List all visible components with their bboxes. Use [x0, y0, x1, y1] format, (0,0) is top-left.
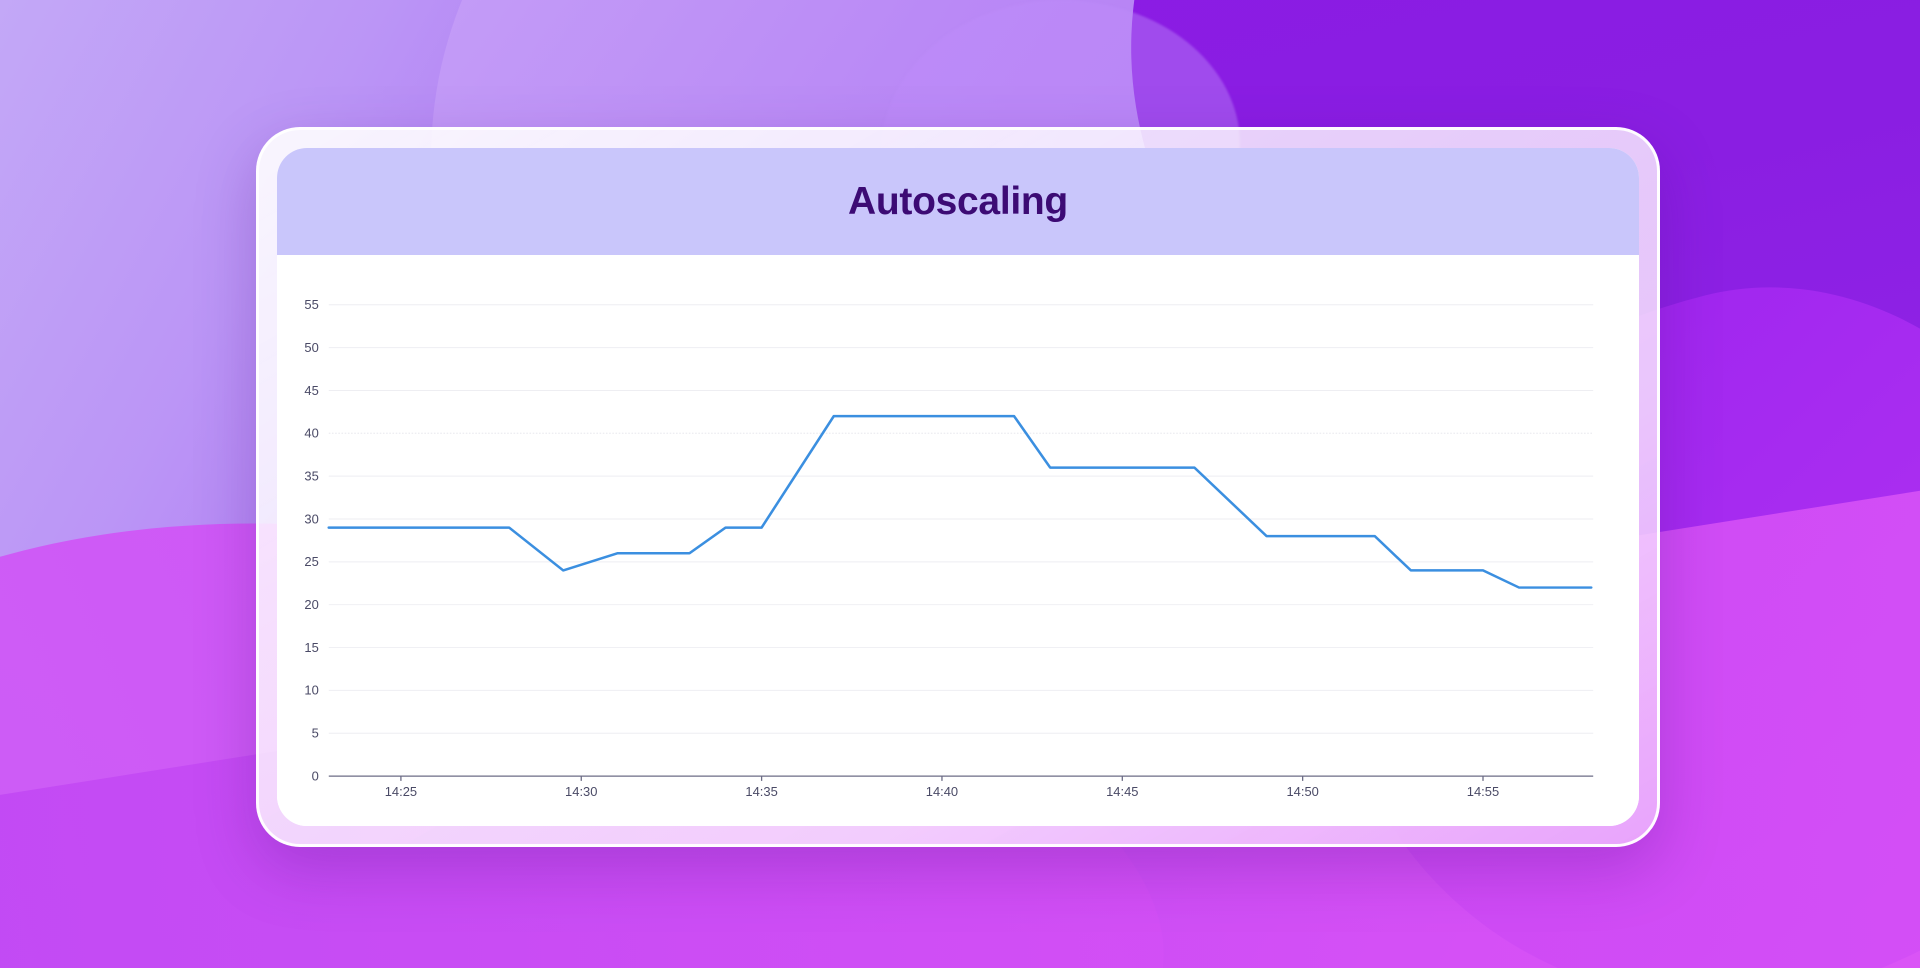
line-chart: 0510152025303540455055 14:2514:3014:3514… [277, 255, 1639, 826]
chart-card: Autoscaling 0510152025303540455055 14:25… [277, 148, 1639, 826]
y-tick-label: 25 [304, 554, 318, 569]
y-tick-label: 50 [304, 340, 318, 355]
x-tick-label: 14:40 [926, 784, 958, 799]
y-tick-label: 30 [304, 512, 318, 527]
x-axis [329, 776, 1593, 781]
page-title: Autoscaling [848, 180, 1068, 224]
x-tick-label: 14:50 [1286, 784, 1318, 799]
x-tick-label: 14:35 [745, 784, 777, 799]
x-tick-label: 14:25 [385, 784, 417, 799]
card-header: Autoscaling [277, 148, 1639, 255]
y-tick-label: 45 [304, 383, 318, 398]
y-tick-label: 55 [304, 297, 318, 312]
y-tick-label: 35 [304, 469, 318, 484]
y-tick-label: 5 [312, 726, 319, 741]
y-tick-label: 40 [304, 426, 318, 441]
x-tick-label: 14:45 [1106, 784, 1138, 799]
x-axis-tick-labels: 14:2514:3014:3514:4014:4514:5014:55 [385, 784, 1499, 799]
x-tick-label: 14:55 [1467, 784, 1499, 799]
x-tick-label: 14:30 [565, 784, 597, 799]
card-body: 0510152025303540455055 14:2514:3014:3514… [277, 255, 1639, 826]
grid-lines [329, 305, 1593, 733]
panel-frame: Autoscaling 0510152025303540455055 14:25… [256, 127, 1660, 847]
y-tick-label: 10 [304, 683, 318, 698]
y-tick-label: 20 [304, 597, 318, 612]
y-axis-tick-labels: 0510152025303540455055 [304, 297, 318, 783]
chart-svg: 0510152025303540455055 14:2514:3014:3514… [277, 255, 1639, 826]
y-tick-label: 15 [304, 640, 318, 655]
y-tick-label: 0 [312, 769, 319, 784]
